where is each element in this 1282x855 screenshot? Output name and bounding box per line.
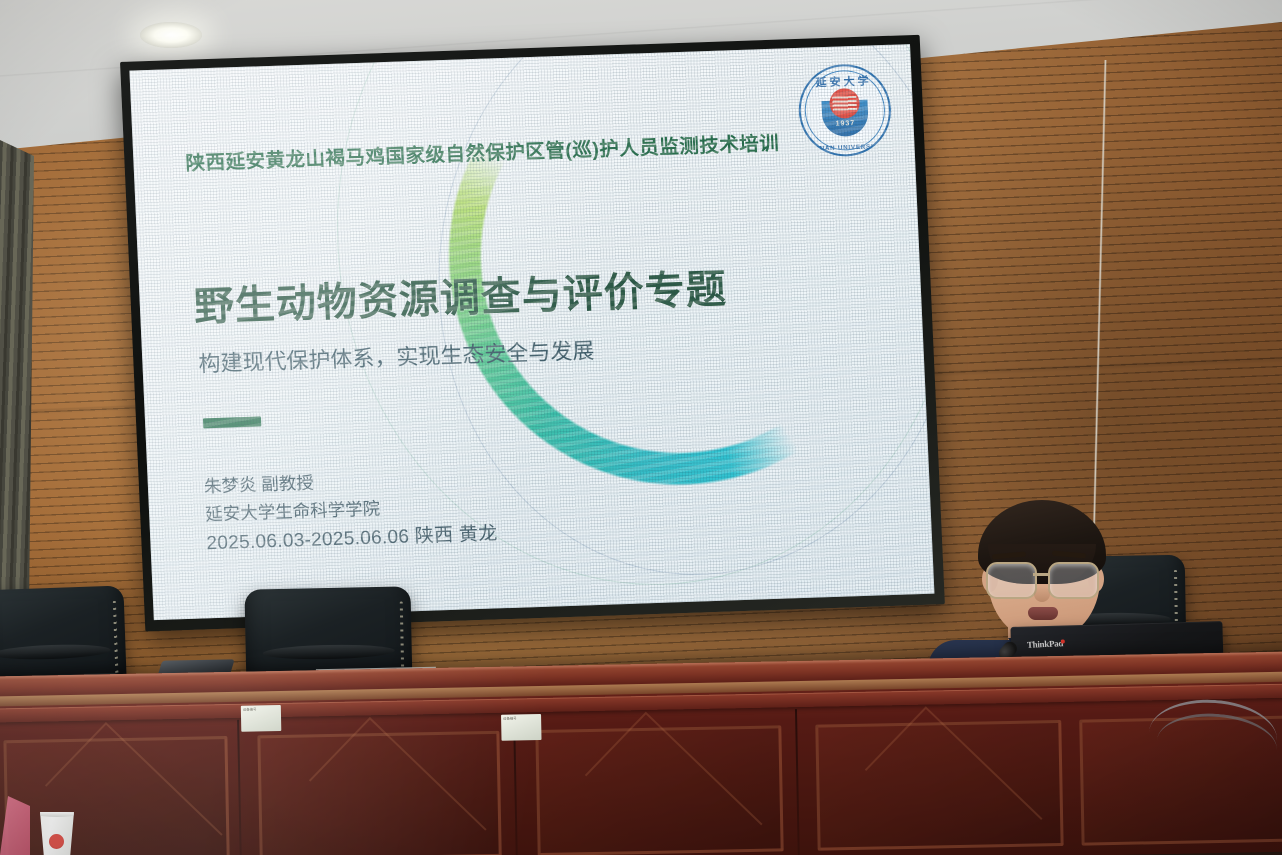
cup-logo-icon [49, 834, 64, 849]
photo-scene: 陕西延安黄龙山褐马鸡国家级自然保护区管(巡)护人员监测技术培训 野生动物资源调查… [0, 0, 1282, 855]
desk-panel-seam [237, 720, 242, 855]
glasses-lens-left [986, 562, 1037, 599]
person-nose [1034, 586, 1050, 602]
presentation-slide: 陕西延安黄龙山褐马鸡国家级自然保护区管(巡)护人员监测技术培训 野生动物资源调查… [129, 44, 934, 620]
led-display: 陕西延安黄龙山褐马鸡国家级自然保护区管(巡)护人员监测技术培训 野生动物资源调查… [120, 35, 945, 632]
person-mouth [1028, 607, 1058, 620]
slide-accent-rule [203, 416, 261, 428]
glasses-bridge [1033, 573, 1048, 576]
glasses-lens-right [1048, 562, 1099, 599]
ceiling-downlight [140, 22, 202, 48]
slide-presenter-block: 朱梦炎 副教授 延安大学生命科学学院 2025.06.03-2025.06.06… [203, 462, 498, 559]
logo-sun-rays [832, 96, 857, 111]
cup-rim [38, 812, 76, 817]
desk-panel-seam [795, 709, 800, 855]
desk-inventory-label: 设备编号 [501, 714, 541, 741]
podium-desk: 设备编号 设备编号 [0, 651, 1282, 855]
desk-inventory-label: 设备编号 [241, 705, 281, 732]
thinkpad-logo-dot [1061, 639, 1065, 643]
